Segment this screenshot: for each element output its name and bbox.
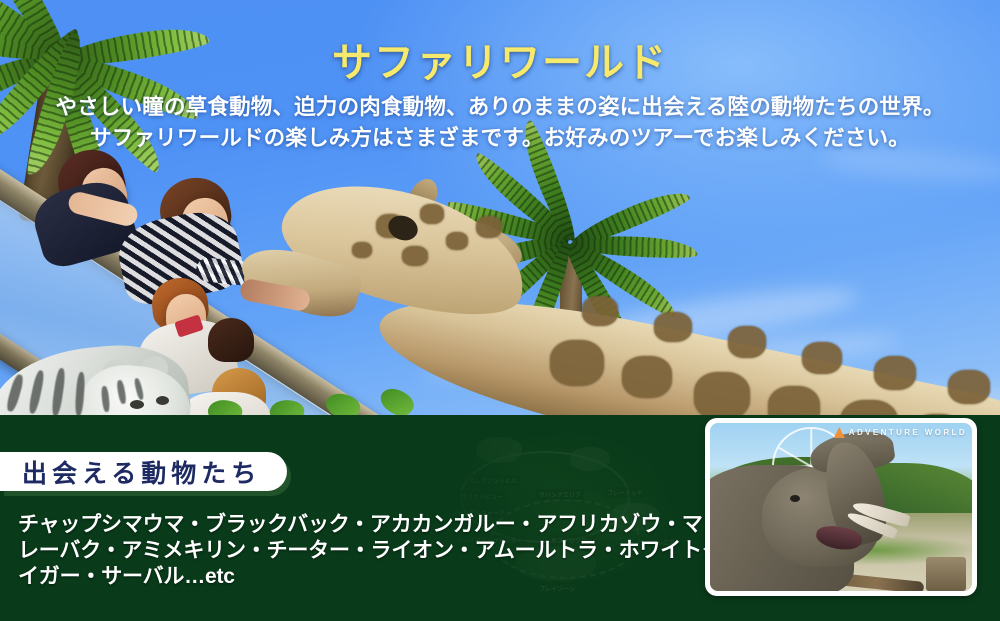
safari-world-banner: サファリワールド やさしい瞳の草食動物、迫力の肉食動物、ありのままの姿に出会える… [0,0,1000,621]
animal-list-line-2: レーバク・アミメキリン・チーター・ライオン・アムールトラ・ホワイトタ [18,538,678,564]
page-title: サファリワールド [0,30,1000,88]
animal-list-line-3: イガー・サーバル…etc [18,564,678,590]
photo-watermark-text: ADVENTURE WORLD [849,428,967,437]
section-tab-animals: 出会える動物たち [0,452,287,491]
elephant-eye [790,495,800,502]
elephant-photo: ADVENTURE WORLD [710,423,972,591]
animal-list-line-1: チャップシマウマ・ブラックバック・アカカンガルー・アフリカゾウ・マ [18,512,678,538]
section-tab-label: 出会える動物たち [22,454,261,490]
photo-watermark: ADVENTURE WORLD [834,427,967,438]
elephant-photo-card: ADVENTURE WORLD [705,418,977,596]
lead-line-2: サファリワールドの楽しみ方はさまざまです。お好みのツアーでお楽しみください。 [0,123,1000,154]
lead-paragraph: やさしい瞳の草食動物、迫力の肉食動物、ありのままの姿に出会える陸の動物たちの世界… [0,92,1000,154]
lead-line-1: やさしい瞳の草食動物、迫力の肉食動物、ありのままの姿に出会える陸の動物たちの世界… [0,92,1000,123]
tiger-eye [130,400,144,409]
animal-list: チャップシマウマ・ブラックバック・アカカンガルー・アフリカゾウ・マ レーバク・ア… [18,512,678,590]
triangle-logo-icon [834,427,845,438]
tiger-eye [156,396,169,405]
